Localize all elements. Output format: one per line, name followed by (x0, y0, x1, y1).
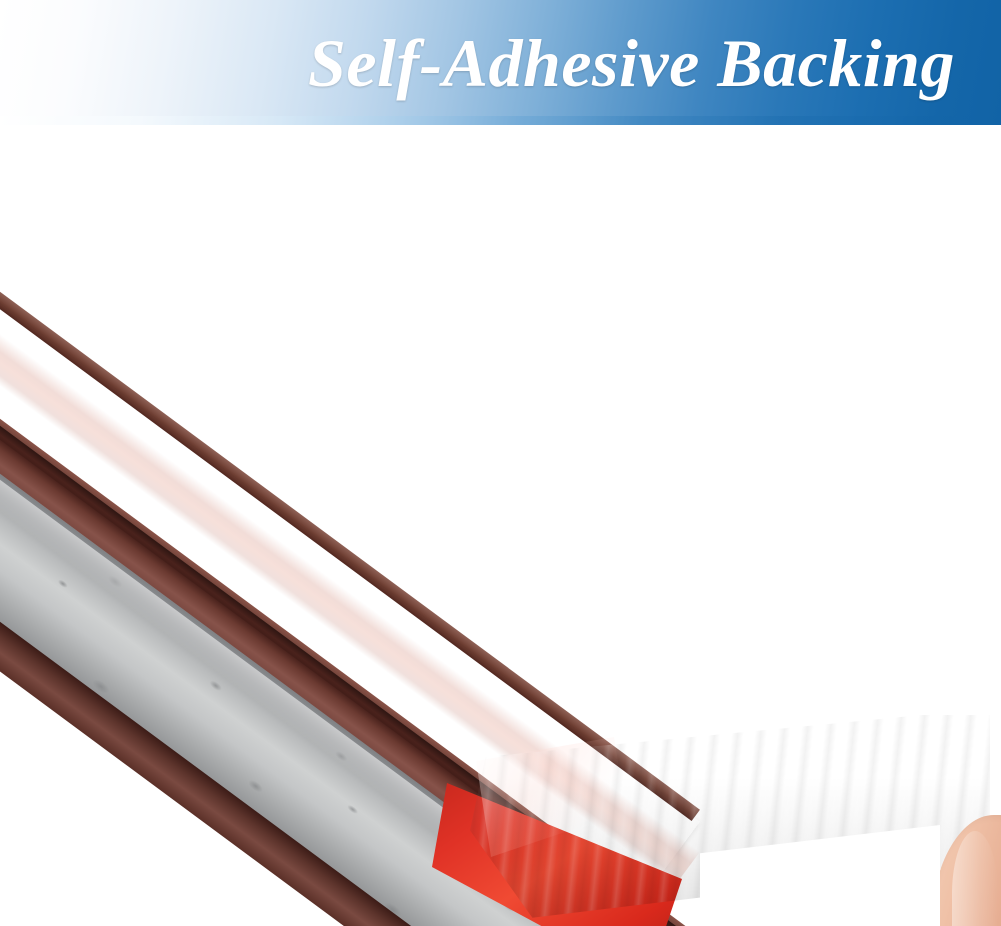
product-feature-page: Self-Adhesive Backing The flexible floor… (0, 0, 1001, 926)
product-photo (0, 125, 1001, 926)
photo-mask-right-field (600, 555, 1001, 715)
page-title: Self-Adhesive Backing (308, 16, 998, 110)
header-banner: Self-Adhesive Backing (0, 0, 1001, 125)
photo-mask-upper-wedge (300, 125, 720, 375)
header-bottom-fade (0, 116, 1001, 125)
